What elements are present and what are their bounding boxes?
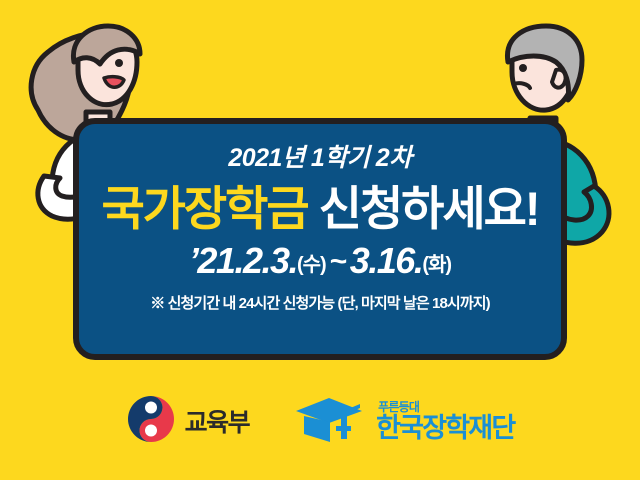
headline: 국가장학금 신청하세요! <box>79 184 561 233</box>
footer-logos: 교육부 푸른등대 한국장학재단 <box>0 388 640 454</box>
period-separator: ~ <box>326 245 350 278</box>
kosaf-sub-label: 푸른등대 <box>378 401 419 413</box>
scholarship-banner: 2021년 1학기 2차 국가장학금 신청하세요! ’21.2.3.(수)~3.… <box>0 0 640 480</box>
kosaf-label: 한국장학재단 <box>376 415 514 442</box>
graduation-cap-icon <box>293 394 367 449</box>
application-period: ’21.2.3.(수)~3.16.(화) <box>79 243 561 279</box>
period-start-day: (수) <box>297 254 326 276</box>
taegeuk-icon <box>126 394 176 449</box>
ministry-label: 교육부 <box>185 403 250 439</box>
period-end-date: 3.16. <box>350 240 423 281</box>
period-start-date: ’21.2.3. <box>189 240 297 281</box>
period-end-day: (화) <box>422 254 451 276</box>
kosaf-logo: 푸른등대 한국장학재단 <box>293 394 514 449</box>
ministry-of-education-logo: 교육부 <box>126 394 250 449</box>
eye <box>115 59 123 67</box>
application-note: ※ 신청기간 내 24시간 신청가능 (단, 마지막 날은 18시까지) <box>79 296 561 311</box>
headline-secondary: 신청하세요! <box>319 182 539 235</box>
eye <box>519 64 527 72</box>
kosaf-text: 푸른등대 한국장학재단 <box>376 401 514 442</box>
eyebrow-text: 2021년 1학기 2차 <box>79 146 561 171</box>
headline-primary: 국가장학금 <box>101 182 307 235</box>
announcement-board: 2021년 1학기 2차 국가장학금 신청하세요! ’21.2.3.(수)~3.… <box>73 118 567 360</box>
